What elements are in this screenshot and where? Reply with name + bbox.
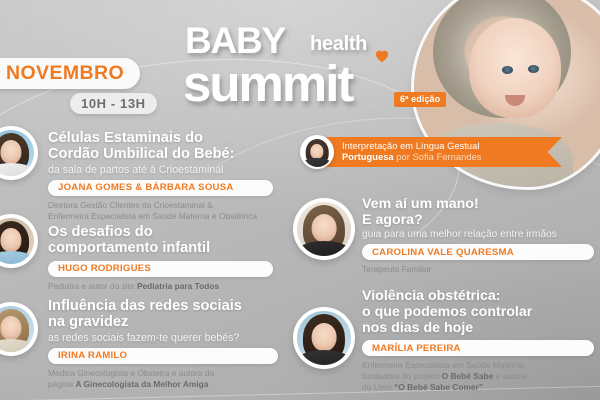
- edition-badge: 6ª edição: [394, 92, 446, 107]
- date-badge: NOVEMBRO: [0, 58, 140, 89]
- speaker-role-line2: Enfermeira Especialista em Saúde Materna…: [48, 211, 257, 221]
- avatar-shoulders: [0, 163, 34, 176]
- speaker-role-line1: Pediatra e autor do site: [48, 281, 137, 291]
- session-card-3: Vem aí um mano! E agora? guia para uma m…: [362, 196, 594, 275]
- session-title: Células Estaminais do Cordão Umbilical d…: [48, 130, 273, 163]
- avatar-carolina-image: [297, 202, 351, 256]
- speaker-name-pill: JOANA GOMES & BÁRBARA SOUSA: [48, 180, 273, 196]
- speaker-role-line2-pre: fundadora do projeto: [362, 371, 442, 381]
- avatar-shoulders: [297, 350, 351, 365]
- avatar-hugo-image: [0, 218, 34, 264]
- speaker-role-line3-pre: do Livro: [362, 382, 394, 392]
- speaker-role-line2-post: e autora: [493, 371, 526, 381]
- session-title-line2: o que podemos controlar: [362, 304, 532, 320]
- speaker-role: Pediatra e autor do site Pediatria para …: [48, 281, 273, 292]
- speaker-role: Enfermeira Especialista em Saúde Materna…: [362, 360, 594, 392]
- speaker-avatar-irina: [0, 302, 38, 356]
- speaker-role-line1: Enfermeira Especialista em Saúde Materna…: [362, 360, 526, 370]
- session-title-line3: nos dias de hoje: [362, 320, 473, 336]
- avatar-face: [312, 214, 337, 242]
- speaker-role-line1: Diretora Gestão Clientes da Crioestamina…: [48, 200, 213, 210]
- session-card-4: Violência obstétrica: o que podemos cont…: [362, 288, 594, 392]
- speaker-name-pill: CAROLINA VALE QUARESMA: [362, 244, 594, 260]
- speaker-role: Médica Ginecologista e Obstetra e autora…: [48, 368, 278, 390]
- sign-language-banner: Interpretação em Língua Gestual Portugue…: [300, 137, 562, 167]
- avatar-shoulders: [297, 241, 351, 256]
- avatar-irina-image: [0, 306, 34, 352]
- avatar-face: [310, 144, 323, 159]
- speaker-role-line2: página: [48, 379, 75, 389]
- date-badge-label: NOVEMBRO: [6, 62, 124, 85]
- session-title-line2: E agora?: [362, 212, 423, 228]
- session-title-line1: Influência das redes sociais: [48, 298, 242, 314]
- speaker-avatar-carolina: [293, 198, 355, 260]
- avatar-face: [0, 228, 21, 252]
- speaker-role-bold2: A Ginecologista da Melhor Amiga: [75, 379, 208, 389]
- avatar-marilia-image: [297, 311, 351, 365]
- speaker-name-pill: HUGO RODRIGUES: [48, 261, 273, 277]
- speaker-avatar-hugo: [0, 214, 38, 268]
- speaker-role: Diretora Gestão Clientes da Crioestamina…: [48, 200, 273, 222]
- session-subtitle: guia para uma melhor relação entre irmão…: [362, 229, 594, 240]
- speaker-name-pill: IRINA RAMILO: [48, 348, 278, 364]
- avatar-face: [0, 316, 21, 340]
- speaker-avatar-joana: [0, 126, 38, 180]
- session-card-2: Influência das redes sociais na gravidez…: [48, 298, 278, 389]
- session-subtitle: da sala de partos até à Crioestaminal: [48, 164, 273, 176]
- logo-health-text: health: [310, 34, 367, 54]
- session-title: Violência obstétrica: o que podemos cont…: [362, 288, 594, 336]
- session-title-line1: Células Estaminais do: [48, 130, 203, 146]
- sign-language-line2-rest: por Sofia Fernandes: [396, 152, 481, 162]
- sign-language-line2-bold: Portuguesa: [342, 152, 394, 162]
- speaker-role-bold2: O Bebé Sabe: [442, 371, 494, 381]
- session-card-0: Células Estaminais do Cordão Umbilical d…: [48, 130, 273, 221]
- sign-language-line1: Interpretação em Língua Gestual: [342, 141, 479, 151]
- avatar-shoulders: [0, 251, 34, 264]
- avatar-shoulders: [0, 339, 34, 352]
- avatar-shoulders: [303, 158, 332, 166]
- session-title-line2: Cordão Umbilical do Bebé:: [48, 146, 235, 162]
- speaker-role-bold1: Pediatria para Todos: [137, 281, 219, 291]
- interpreter-avatar-image: [303, 138, 332, 167]
- speaker-name-pill: MARÍLIA PEREIRA: [362, 340, 594, 356]
- event-logo: BABY health summit 6ª edição: [185, 22, 425, 117]
- speaker-avatar-marilia: [293, 307, 355, 369]
- speaker-role-line1: Médica Ginecologista e Obstetra e autora…: [48, 368, 214, 378]
- avatar-face: [312, 323, 337, 351]
- avatar-face: [0, 140, 21, 164]
- speaker-role-line1: Terapeuta Familiar: [362, 264, 431, 274]
- sign-language-text: Interpretação em Língua Gestual Portugue…: [342, 141, 536, 164]
- session-title: Vem aí um mano! E agora?: [362, 196, 594, 228]
- logo-baby-text: BABY: [185, 22, 285, 59]
- session-title-line2: comportamento infantil: [48, 240, 210, 256]
- logo-summit-text: summit: [183, 58, 352, 109]
- heart-icon: [375, 50, 389, 63]
- interpreter-avatar: [300, 135, 334, 169]
- session-title: Influência das redes sociais na gravidez: [48, 298, 278, 331]
- session-title-line2: na gravidez: [48, 314, 128, 330]
- time-badge: 10H - 13H: [70, 93, 157, 114]
- avatar-joana-image: [0, 130, 34, 176]
- session-subtitle: as redes sociais fazem-te querer bebés?: [48, 332, 278, 344]
- session-title-line1: Os desafios do: [48, 224, 153, 240]
- session-title-line1: Vem aí um mano!: [362, 196, 479, 212]
- session-title: Os desafios do comportamento infantil: [48, 224, 273, 257]
- speaker-role-bold3: “O Bebé Sabe Comer”: [394, 382, 483, 392]
- time-badge-label: 10H - 13H: [81, 96, 146, 111]
- speaker-role: Terapeuta Familiar: [362, 264, 594, 275]
- session-title-line1: Violência obstétrica:: [362, 288, 501, 304]
- session-card-1: Os desafios do comportamento infantil HU…: [48, 224, 273, 292]
- event-poster: NOVEMBRO 10H - 13H BABY health summit 6ª…: [0, 0, 600, 400]
